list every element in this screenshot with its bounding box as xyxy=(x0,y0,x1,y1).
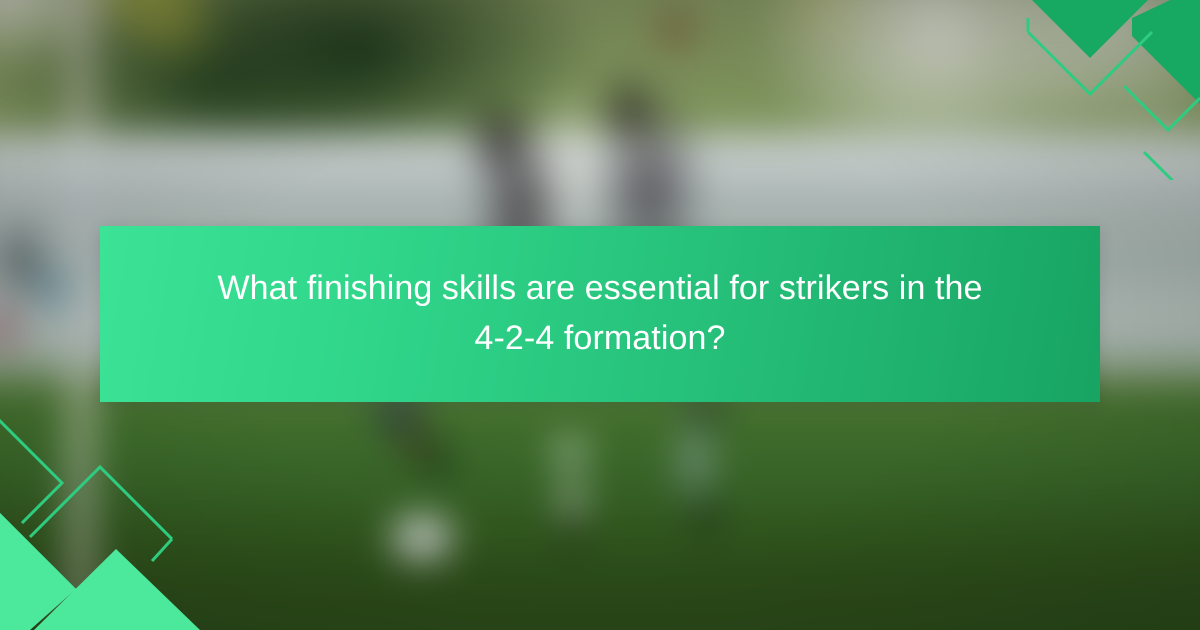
og-card-canvas: What finishing skills are essential for … xyxy=(0,0,1200,630)
headline-banner: What finishing skills are essential for … xyxy=(100,226,1100,402)
headline-text: What finishing skills are essential for … xyxy=(170,264,1030,364)
